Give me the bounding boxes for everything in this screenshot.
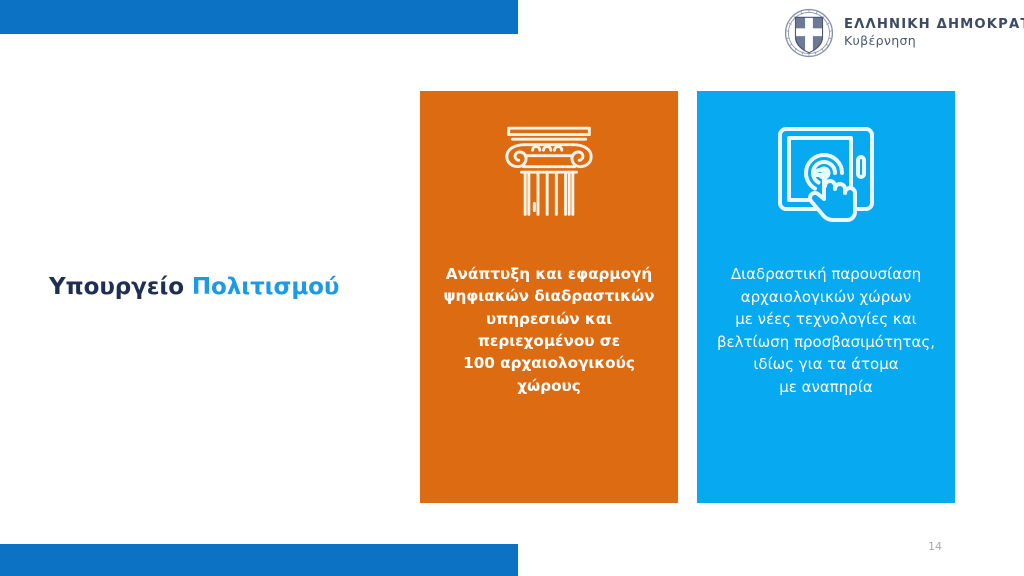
page-title-culture: Πολιτισμού [192, 274, 339, 300]
greek-coat-of-arms-icon [783, 7, 835, 59]
logo-title: ΕΛΛΗΝΙΚΗ ΔΗΜΟΚΡΑΤΙΑ [844, 18, 1024, 33]
interactive-presentation-card-text: Διαδραστική παρουσίαση αρχαιολογικών χώρ… [705, 263, 947, 398]
bottom-accent-bar [0, 544, 518, 576]
page-title-ministry: Υπουργείο [49, 274, 184, 300]
government-logo: ΕΛΛΗΝΙΚΗ ΔΗΜΟΚΡΑΤΙΑ Κυβέρνηση [783, 7, 1024, 59]
digital-services-card-text: Ανάπτυξη και εφαρμογή ψηφιακών διαδραστι… [431, 263, 666, 397]
ionic-column-icon [494, 119, 604, 229]
page-title: Υπουργείο Πολιτισμού [49, 274, 339, 300]
top-accent-bar [0, 0, 518, 34]
page-number: 14 [928, 540, 942, 553]
touchscreen-tablet-hand-icon [766, 119, 886, 231]
interactive-presentation-card: Διαδραστική παρουσίαση αρχαιολογικών χώρ… [697, 91, 955, 503]
logo-subtitle: Κυβέρνηση [844, 34, 1024, 48]
digital-services-card: Ανάπτυξη και εφαρμογή ψηφιακών διαδραστι… [420, 91, 678, 503]
logo-text-block: ΕΛΛΗΝΙΚΗ ΔΗΜΟΚΡΑΤΙΑ Κυβέρνηση [844, 18, 1024, 49]
